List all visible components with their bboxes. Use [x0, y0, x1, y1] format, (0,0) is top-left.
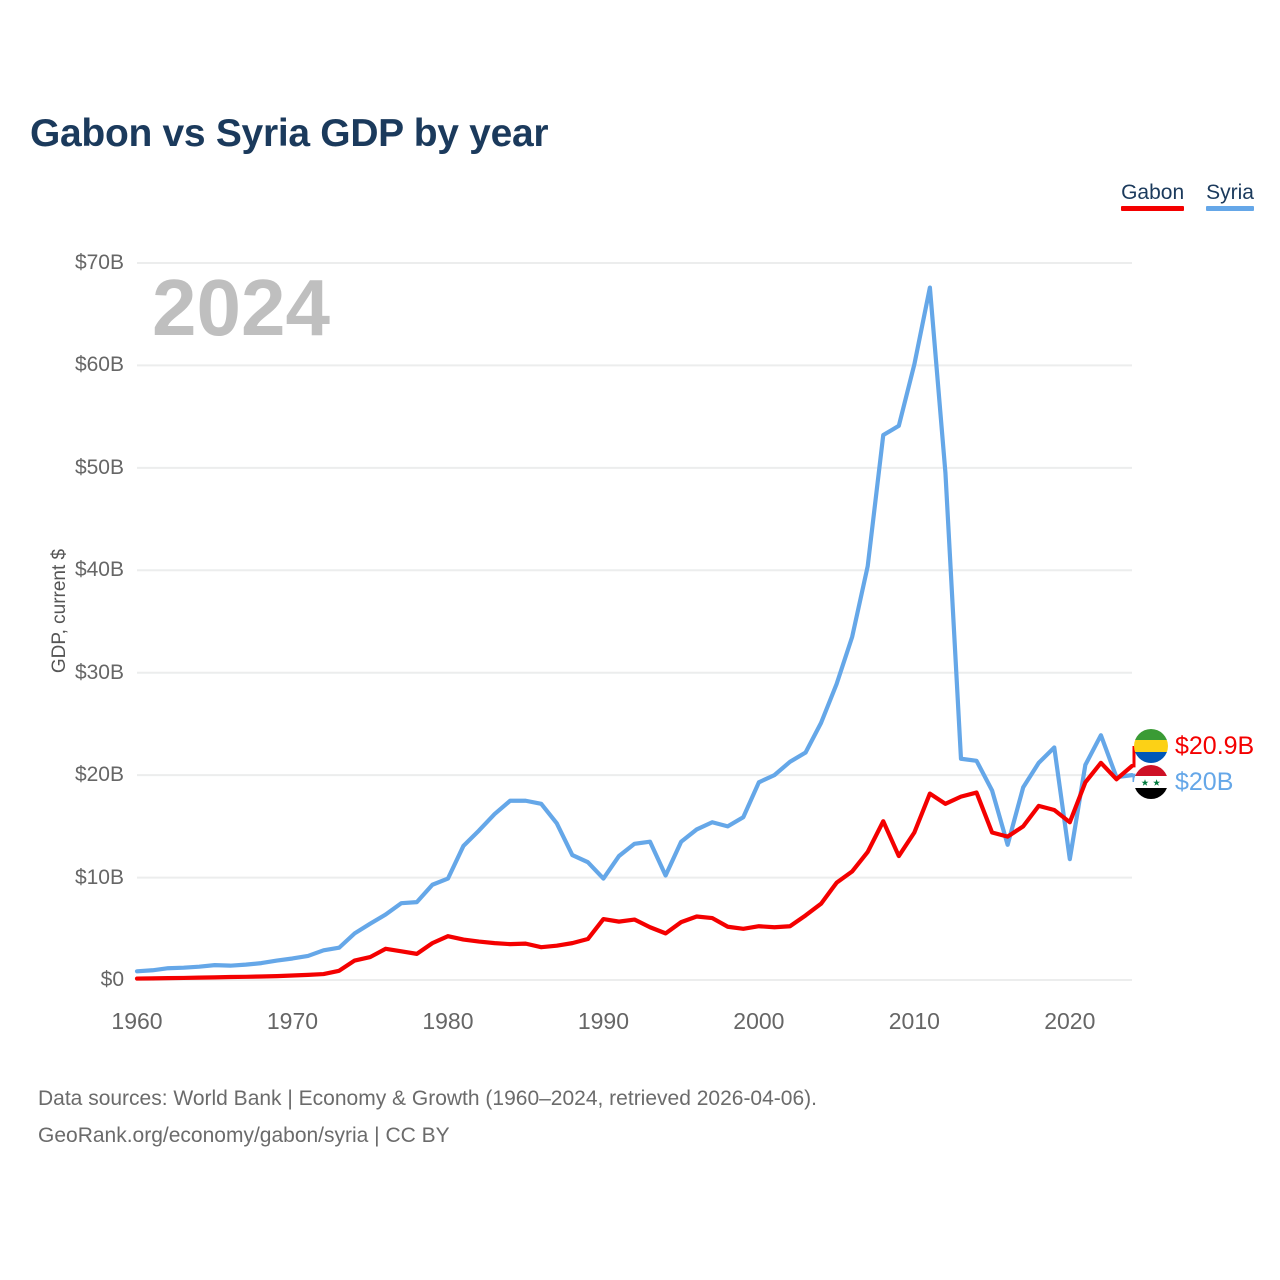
series-line-gabon: [137, 763, 1132, 979]
end-label-gabon: $20.9B: [1134, 728, 1280, 764]
series-line-syria: [137, 288, 1132, 972]
gridlines: [137, 263, 1132, 980]
gdp-line-chart: Gabon vs Syria GDP by year Gabon Syria 2…: [0, 0, 1280, 1280]
end-value-syria: $20B: [1175, 768, 1233, 797]
end-label-syria: $20B: [1134, 764, 1280, 800]
footer-sources: Data sources: World Bank | Economy & Gro…: [38, 1087, 817, 1111]
series-end-labels: $20.9B $20B: [1134, 728, 1280, 800]
syria-flag-icon: [1134, 765, 1168, 799]
end-value-gabon: $20.9B: [1175, 732, 1254, 761]
footer-attribution: GeoRank.org/economy/gabon/syria | CC BY: [38, 1124, 450, 1148]
gabon-flag-icon: [1134, 729, 1168, 763]
